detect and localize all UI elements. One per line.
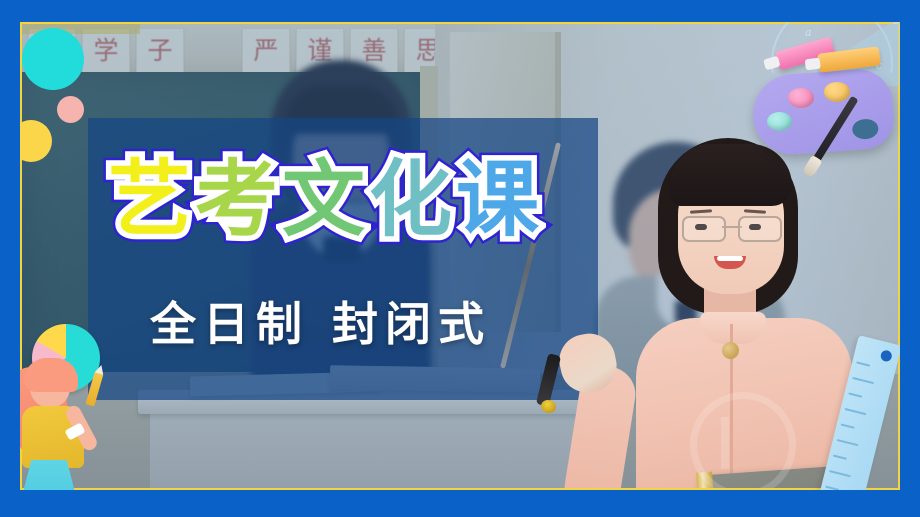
outer-margin-right	[900, 0, 920, 517]
paint-dab-cyan	[767, 112, 792, 131]
outer-margin-bottom	[0, 490, 920, 517]
student-illustration	[0, 318, 150, 517]
decor-circle-cyan	[22, 28, 84, 90]
wall-banner-card: 子	[136, 28, 184, 74]
ruler-hole	[880, 349, 893, 362]
main-title-char: 考考	[195, 158, 278, 241]
teacher-collar	[700, 312, 766, 344]
teacher-fringe	[670, 144, 792, 206]
main-title-char: 化化	[369, 158, 452, 241]
outer-margin-top	[0, 0, 920, 22]
wall-banner-char: 学	[83, 29, 129, 73]
glasses-icon	[682, 216, 782, 238]
decor-circle-pink	[57, 96, 84, 123]
paint-dab-yellow	[824, 82, 850, 102]
main-title: 艺艺 考考 文文 化化 课课	[108, 158, 539, 241]
wall-banner-char: 子	[137, 29, 183, 73]
main-title-char: 文文	[282, 158, 365, 241]
classroom-desk-front	[150, 404, 590, 490]
wall-banner-card: 学	[82, 28, 130, 74]
triangle-label-a: a	[805, 26, 812, 39]
art-supplies-decoration: a b c	[745, 0, 920, 150]
subtitle: 全日制 封闭式	[150, 288, 491, 354]
teacher-button	[722, 342, 739, 359]
main-title-char: 艺艺	[108, 158, 191, 241]
education-promo-banner: 乐 学 子 严 谨 善 思	[0, 0, 920, 517]
watermark-logo	[690, 392, 796, 498]
outer-margin-left	[0, 0, 20, 517]
illustration-hair-top	[24, 358, 78, 392]
paint-dab-pink	[788, 88, 814, 108]
main-title-char: 课课	[456, 158, 539, 241]
